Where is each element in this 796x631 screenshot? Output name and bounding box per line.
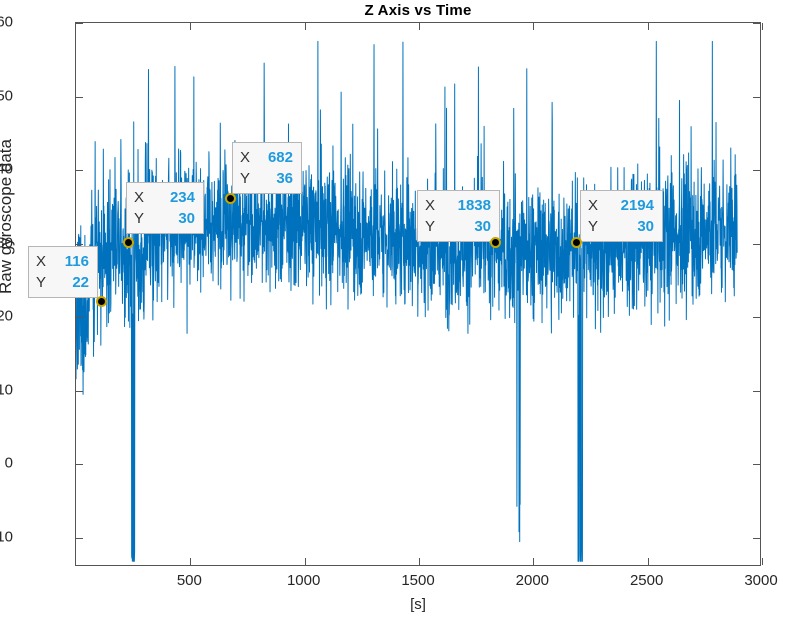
y-tick xyxy=(76,170,83,171)
datatip-x-key: X xyxy=(588,195,603,216)
datatip-marker[interactable] xyxy=(490,237,501,248)
y-axis-title: Raw gyroscope data xyxy=(0,139,16,294)
datatip-x-key: X xyxy=(240,147,255,168)
datatip-x-key: X xyxy=(36,251,51,272)
y-tick-right xyxy=(753,317,760,318)
signal-line xyxy=(76,41,737,561)
chart-title: Z Axis vs Time xyxy=(75,2,761,19)
datatip-marker[interactable] xyxy=(96,296,107,307)
datatip-x-row: X2194 xyxy=(588,195,654,216)
datatip-y-row: Y30 xyxy=(134,208,195,229)
plot-axes[interactable] xyxy=(75,22,761,566)
y-tick-label: 20 xyxy=(0,308,13,325)
datatip-x-value: 682 xyxy=(255,147,293,168)
datatip-x-value: 234 xyxy=(149,187,195,208)
x-tick-label: 500 xyxy=(177,572,202,589)
datatip-marker[interactable] xyxy=(123,237,134,248)
signal-plot xyxy=(76,23,760,565)
datatip-x-row: X234 xyxy=(134,187,195,208)
x-tick xyxy=(762,558,763,565)
y-tick-label: 60 xyxy=(0,14,13,31)
y-tick-label: 0 xyxy=(5,455,13,472)
datatip-y-row: Y30 xyxy=(588,216,654,237)
x-tick-top xyxy=(648,23,649,30)
datatip-x-key: X xyxy=(134,187,149,208)
datatip-x-key: X xyxy=(425,195,440,216)
y-tick xyxy=(76,464,83,465)
x-tick xyxy=(190,558,191,565)
datatip-y-row: Y36 xyxy=(240,168,293,189)
datatip-y-key: Y xyxy=(425,216,440,237)
datatip-y-key: Y xyxy=(240,168,255,189)
y-tick xyxy=(76,538,83,539)
datatip-y-row: Y30 xyxy=(425,216,491,237)
datatip-box[interactable]: X682Y36 xyxy=(232,142,302,194)
datatip-y-value: 30 xyxy=(603,216,654,237)
x-tick-top xyxy=(419,23,420,30)
datatip-y-value: 22 xyxy=(51,272,89,293)
datatip-box[interactable]: X116Y22 xyxy=(28,246,98,298)
datatip-box[interactable]: X1838Y30 xyxy=(417,190,500,242)
datatip-x-row: X682 xyxy=(240,147,293,168)
datatip-y-value: 30 xyxy=(440,216,491,237)
datatip-y-key: Y xyxy=(36,272,51,293)
x-tick-top xyxy=(305,23,306,30)
y-tick-right xyxy=(753,97,760,98)
y-tick xyxy=(76,23,83,24)
y-tick-label: 10 xyxy=(0,381,13,398)
datatip-box[interactable]: X234Y30 xyxy=(126,182,204,234)
y-tick xyxy=(76,391,83,392)
y-tick-right xyxy=(753,538,760,539)
datatip-y-key: Y xyxy=(134,208,149,229)
x-tick xyxy=(648,558,649,565)
datatip-x-value: 1838 xyxy=(440,195,491,216)
x-axis-title: [s] xyxy=(75,596,761,613)
x-tick-label: 1500 xyxy=(401,572,434,589)
datatip-x-value: 2194 xyxy=(603,195,654,216)
datatip-y-value: 30 xyxy=(149,208,195,229)
x-tick-top xyxy=(190,23,191,30)
y-tick-right xyxy=(753,464,760,465)
x-tick-top xyxy=(762,23,763,30)
x-tick xyxy=(419,558,420,565)
x-tick-label: 2000 xyxy=(516,572,549,589)
datatip-x-row: X1838 xyxy=(425,195,491,216)
datatip-box[interactable]: X2194Y30 xyxy=(580,190,663,242)
y-tick-right xyxy=(753,170,760,171)
x-tick-label: 2500 xyxy=(630,572,663,589)
datatip-y-row: Y22 xyxy=(36,272,89,293)
y-tick xyxy=(76,244,83,245)
y-tick-right xyxy=(753,244,760,245)
x-tick-top xyxy=(533,23,534,30)
figure-canvas: Z Axis vs Time -100102030405060 50010001… xyxy=(0,0,796,631)
datatip-y-value: 36 xyxy=(255,168,293,189)
y-tick-right xyxy=(753,23,760,24)
y-tick xyxy=(76,317,83,318)
x-tick-label: 3000 xyxy=(744,572,777,589)
x-tick-label: 1000 xyxy=(287,572,320,589)
y-tick-right xyxy=(753,391,760,392)
x-tick xyxy=(305,558,306,565)
y-tick-label: 50 xyxy=(0,87,13,104)
datatip-y-key: Y xyxy=(588,216,603,237)
datatip-x-value: 116 xyxy=(51,251,89,272)
x-tick xyxy=(533,558,534,565)
datatip-x-row: X116 xyxy=(36,251,89,272)
y-tick xyxy=(76,97,83,98)
y-tick-label: -10 xyxy=(0,528,13,545)
